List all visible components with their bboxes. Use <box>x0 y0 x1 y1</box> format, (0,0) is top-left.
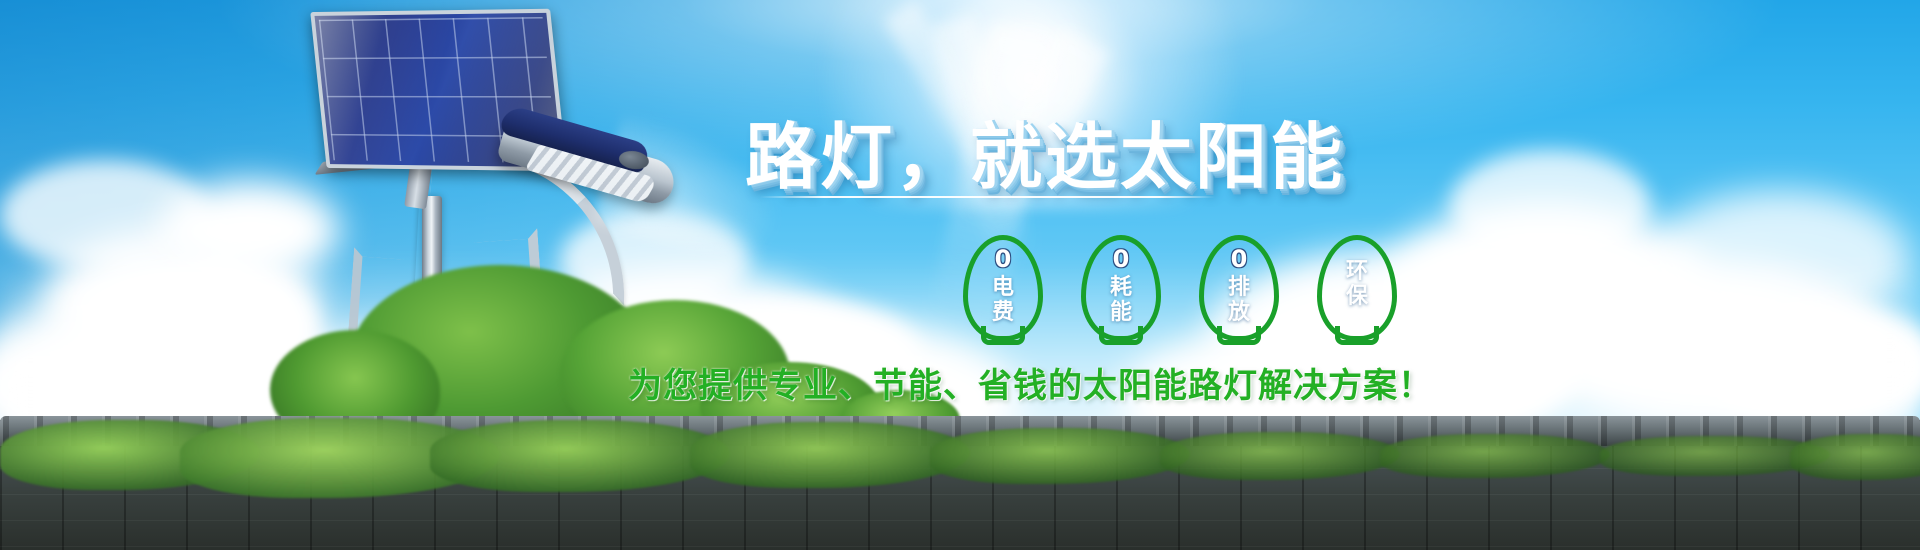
badge-item-2: 0 耗 能 <box>1073 235 1169 343</box>
badge-item-1: 0 电 费 <box>955 235 1051 343</box>
badge-word-line2: 放 <box>1191 300 1287 325</box>
badge-word-line1: 耗 <box>1073 275 1169 300</box>
tagline: 为您提供专业、节能、省钱的太阳能路灯解决方案！ <box>628 358 1433 407</box>
badge-word: 耗 能 <box>1073 275 1169 325</box>
badge-zero: 0 <box>955 245 1051 273</box>
badge-item-4: 环 保 <box>1309 235 1405 343</box>
badge-word-line1: 环 <box>1309 259 1405 284</box>
headline-divider <box>760 196 1215 198</box>
feature-badges: 0 电 费 0 耗 能 0 排 放 <box>955 235 1425 345</box>
badge-zero: 0 <box>1073 245 1169 273</box>
copy-block: 路灯，就选太阳能 0 电 费 0 耗 能 0 <box>0 0 1920 550</box>
badge-word-line1: 排 <box>1191 275 1287 300</box>
hero-banner: 路灯，就选太阳能 0 电 费 0 耗 能 0 <box>0 0 1920 550</box>
badge-word-line2: 费 <box>955 300 1051 325</box>
badge-word: 电 费 <box>955 275 1051 325</box>
badge-word: 环 保 <box>1309 259 1405 309</box>
badge-word-line1: 电 <box>955 275 1051 300</box>
badge-word-line2: 保 <box>1309 284 1405 309</box>
badge-item-3: 0 排 放 <box>1191 235 1287 343</box>
badge-zero: 0 <box>1191 245 1287 273</box>
page-title: 路灯，就选太阳能 <box>745 98 1345 203</box>
badge-word-line2: 能 <box>1073 300 1169 325</box>
badge-word: 排 放 <box>1191 275 1287 325</box>
